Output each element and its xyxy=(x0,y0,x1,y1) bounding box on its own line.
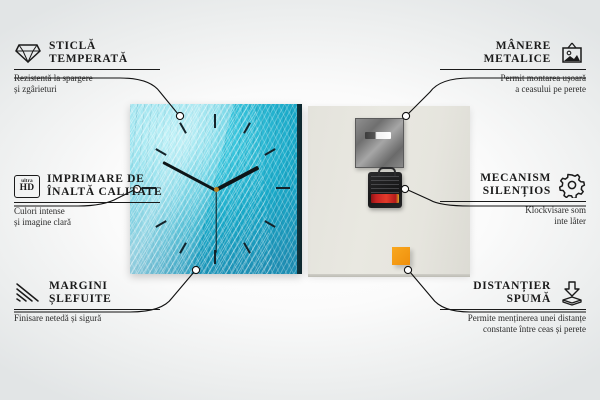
mechanism-detail xyxy=(371,176,399,193)
callout-description: Culori intense și imagine clară xyxy=(14,206,174,228)
callout-header: DISTANȚIER SPUMĂ xyxy=(426,280,586,306)
spacer-arrow-icon xyxy=(558,280,586,306)
ultra-hd-icon: ultra HD xyxy=(14,175,40,198)
mechanism-hook xyxy=(378,167,396,176)
callout-divider xyxy=(440,69,586,70)
hanger-slot xyxy=(365,132,391,139)
callout-title: IMPRIMARE DE ÎNALTĂ CALITATE xyxy=(47,173,162,199)
callout-divider xyxy=(14,202,160,203)
glass-edge xyxy=(297,104,302,274)
feature-callout-tempered-glass[interactable]: STICLĂ TEMPERATĂ Rezistentă la spargere … xyxy=(14,40,174,95)
foam-spacer xyxy=(392,247,410,265)
tick-12 xyxy=(214,114,216,128)
callout-header: MÂNERE METALICE xyxy=(426,40,586,66)
gear-icon xyxy=(558,172,586,198)
callout-description: Rezistentă la spargere și zgârieturi xyxy=(14,73,174,95)
callout-title: STICLĂ TEMPERATĂ xyxy=(49,40,128,66)
callout-description: Permite menținerea unei distanțe constan… xyxy=(426,313,586,335)
clock-mechanism xyxy=(368,172,402,208)
callout-header: MARGINI ȘLEFUITE xyxy=(14,280,174,306)
battery xyxy=(371,194,399,203)
callout-title: MECANISM SILENȚIOS xyxy=(480,172,551,198)
callout-description: Klockvisare som inte låter xyxy=(426,205,586,227)
feature-callout-polished-edges[interactable]: MARGINI ȘLEFUITE Finisare netedă și sigu… xyxy=(14,280,174,324)
feature-callout-silent-mechanism[interactable]: MECANISM SILENȚIOS Klockvisare som inte … xyxy=(426,172,586,227)
tick-3 xyxy=(276,187,290,189)
callout-title: MARGINI ȘLEFUITE xyxy=(49,280,111,306)
picture-hanger-icon xyxy=(558,41,586,65)
diamond-icon xyxy=(14,42,42,64)
product-image xyxy=(130,104,470,276)
metal-hanger-plate xyxy=(355,118,404,168)
callout-header: ultra HD IMPRIMARE DE ÎNALTĂ CALITATE xyxy=(14,173,174,199)
callout-title: MÂNERE METALICE xyxy=(484,40,551,66)
callout-divider xyxy=(14,309,160,310)
callout-divider xyxy=(14,69,160,70)
hand-center-cap xyxy=(214,187,219,192)
callout-title: DISTANȚIER SPUMĂ xyxy=(473,280,551,306)
callout-header: STICLĂ TEMPERATĂ xyxy=(14,40,174,66)
feature-callout-foam-spacer[interactable]: DISTANȚIER SPUMĂ Permite menținerea unei… xyxy=(426,280,586,335)
callout-description: Finisare netedă și sigură xyxy=(14,313,174,324)
callout-header: MECANISM SILENȚIOS xyxy=(426,172,586,198)
feature-callout-metal-handles[interactable]: MÂNERE METALICE Permit montarea ușoară a… xyxy=(426,40,586,95)
callout-description: Permit montarea ușoară a ceasului pe per… xyxy=(426,73,586,95)
second-hand xyxy=(215,190,216,252)
callout-divider xyxy=(440,309,586,310)
infographic-canvas: STICLĂ TEMPERATĂ Rezistentă la spargere … xyxy=(0,0,600,400)
feature-callout-hd-printing[interactable]: ultra HD IMPRIMARE DE ÎNALTĂ CALITATE Cu… xyxy=(14,173,174,228)
callout-divider xyxy=(440,201,586,202)
polished-edge-icon xyxy=(14,282,42,304)
